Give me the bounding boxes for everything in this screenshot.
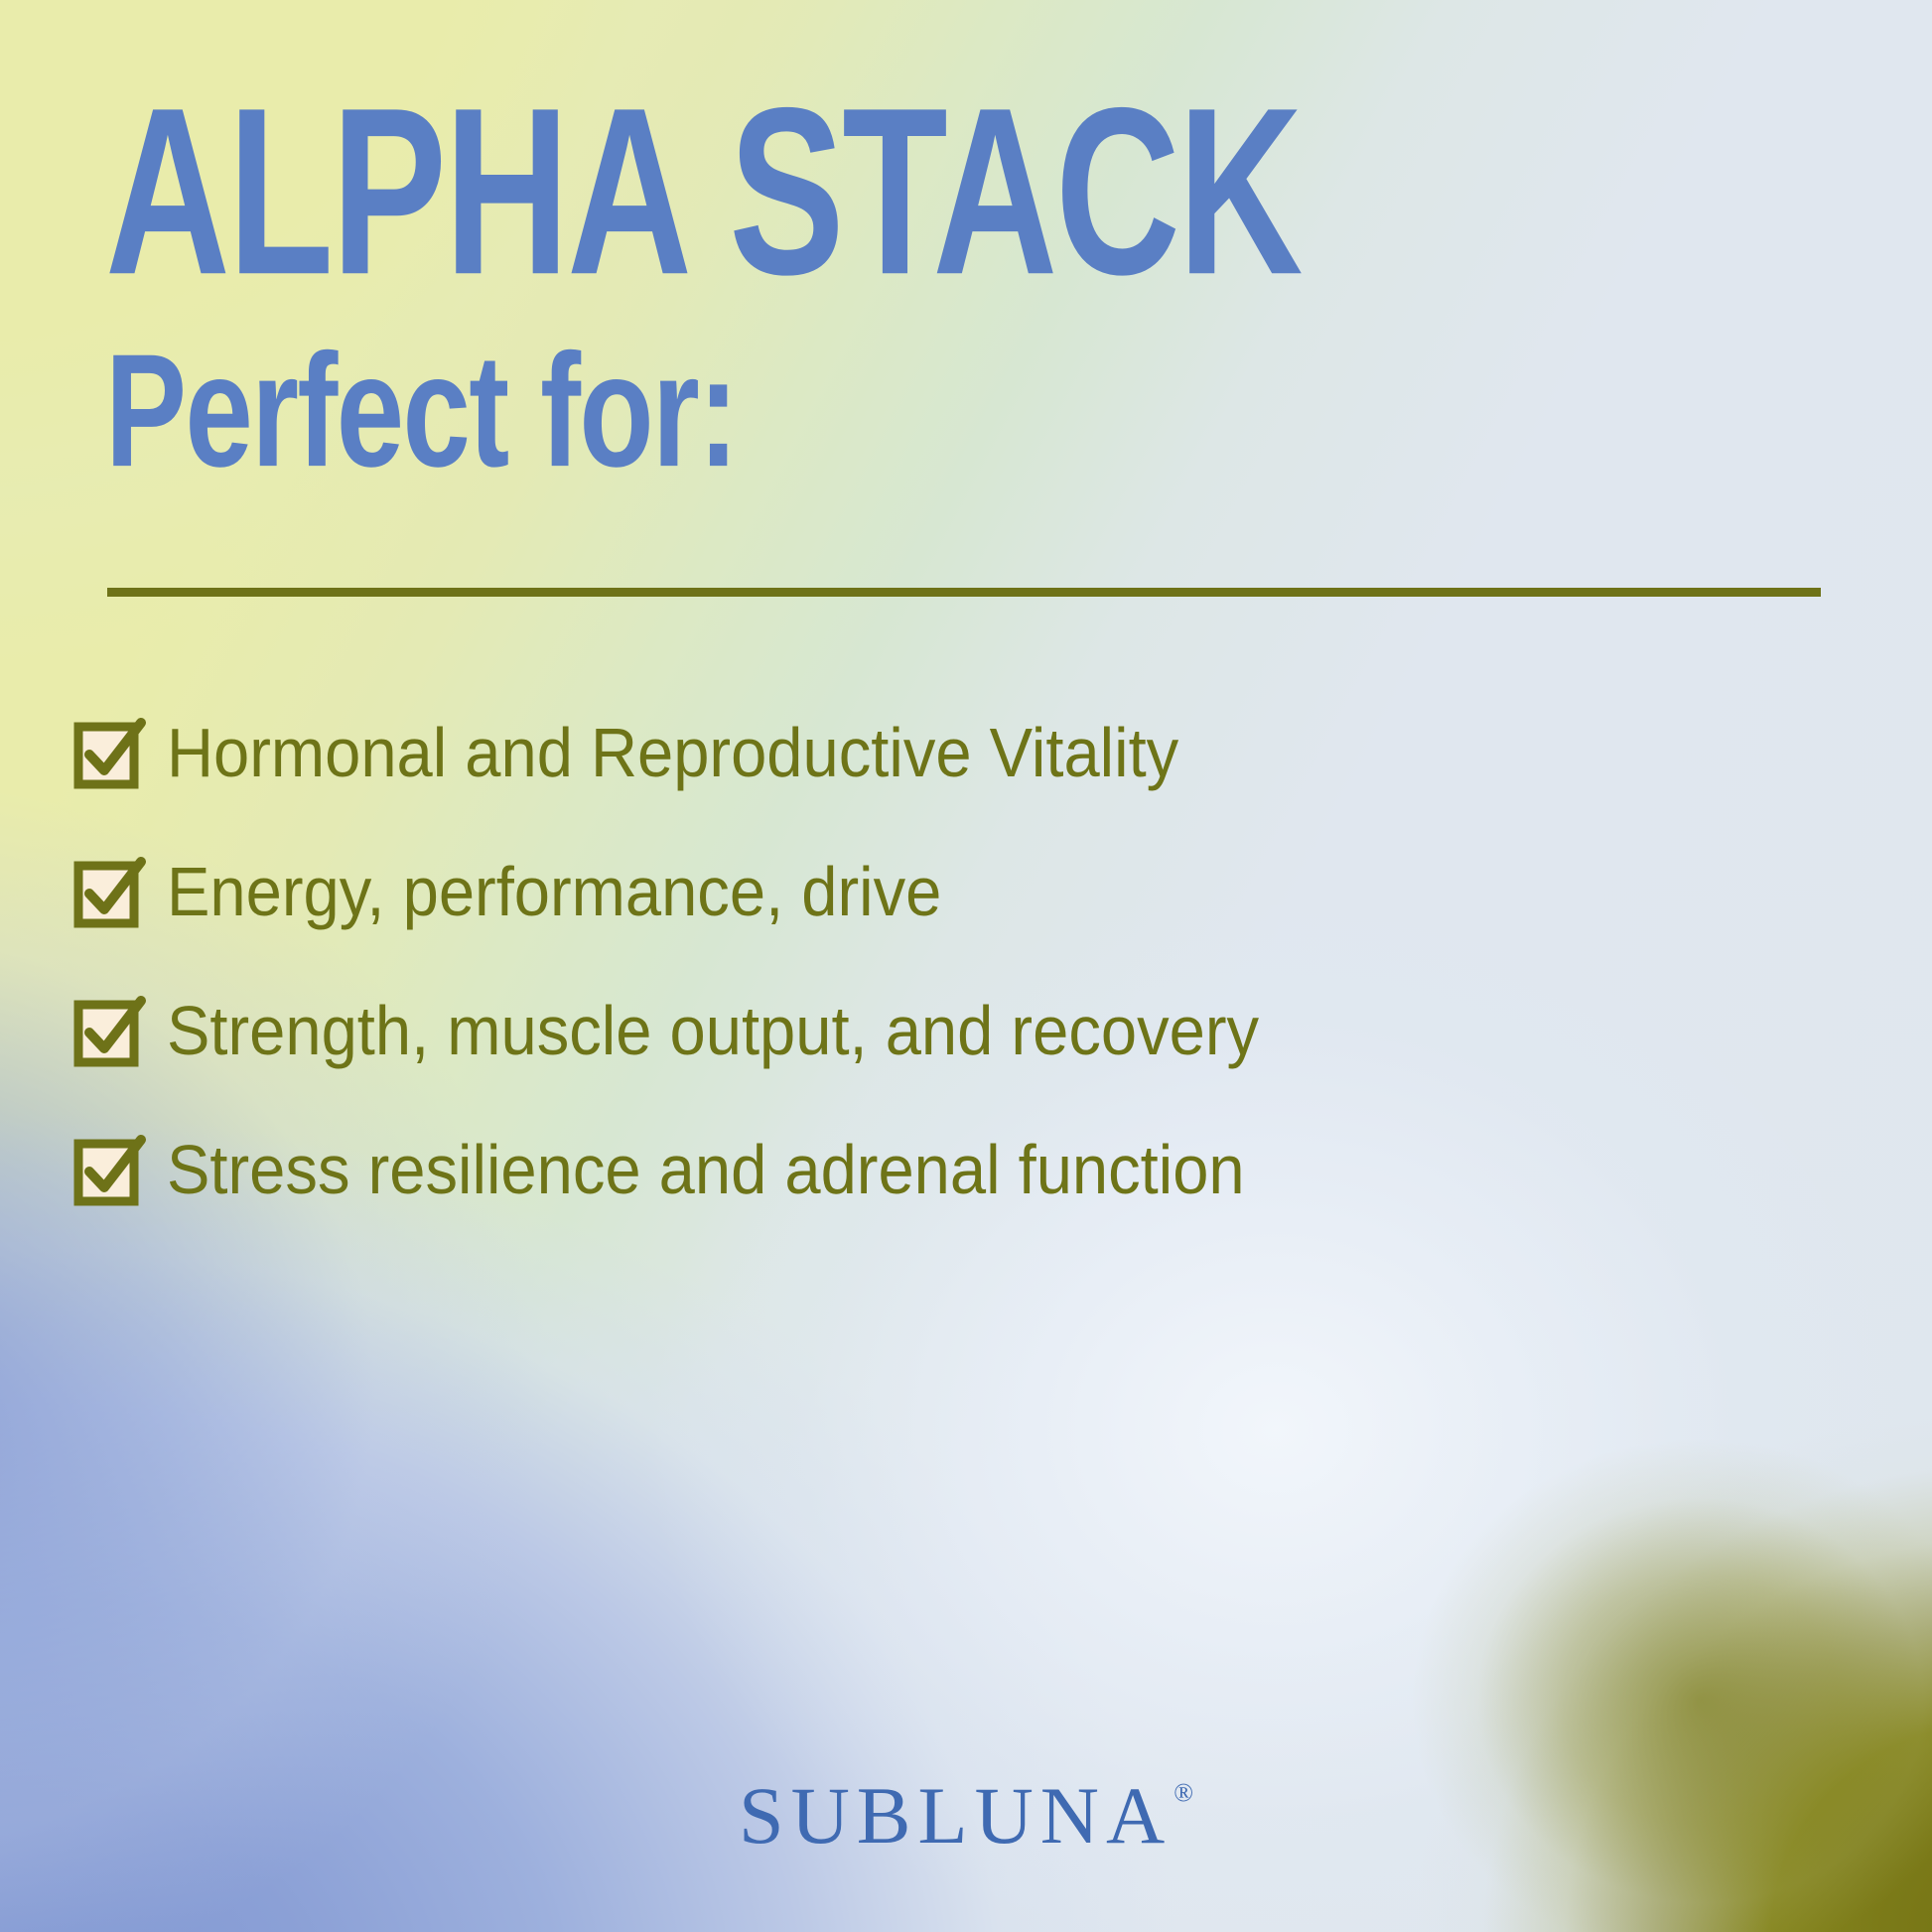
registered-trademark-icon: ® (1173, 1778, 1193, 1807)
list-item-label: Strength, muscle output, and recovery (167, 991, 1742, 1066)
checkbox-checked-icon (73, 1132, 145, 1209)
list-item-label: Stress resilience and adrenal function (167, 1130, 1742, 1205)
checkbox-checked-icon (73, 993, 145, 1070)
checkbox-checked-icon (73, 715, 145, 792)
list-item: Strength, muscle output, and recovery (73, 991, 1861, 1130)
list-item: Stress resilience and adrenal function (73, 1130, 1861, 1269)
list-item-label: Energy, performance, drive (167, 852, 1742, 927)
promo-card: ALPHA STACK Perfect for: Hormonal and Re… (0, 0, 1932, 1932)
list-item-label: Hormonal and Reproductive Vitality (167, 713, 1742, 788)
benefits-checklist: Hormonal and Reproductive Vitality Energ… (73, 713, 1861, 1269)
card-content: ALPHA STACK Perfect for: Hormonal and Re… (0, 0, 1932, 1932)
list-item: Energy, performance, drive (73, 852, 1861, 991)
brand-logo: SUBLUNA® (0, 1775, 1932, 1857)
header-divider (107, 588, 1821, 597)
brand-name: SUBLUNA (739, 1770, 1172, 1861)
page-title: ALPHA STACK (105, 73, 1301, 312)
list-item: Hormonal and Reproductive Vitality (73, 713, 1861, 852)
page-subtitle: Perfect for: (105, 330, 737, 490)
checkbox-checked-icon (73, 854, 145, 931)
